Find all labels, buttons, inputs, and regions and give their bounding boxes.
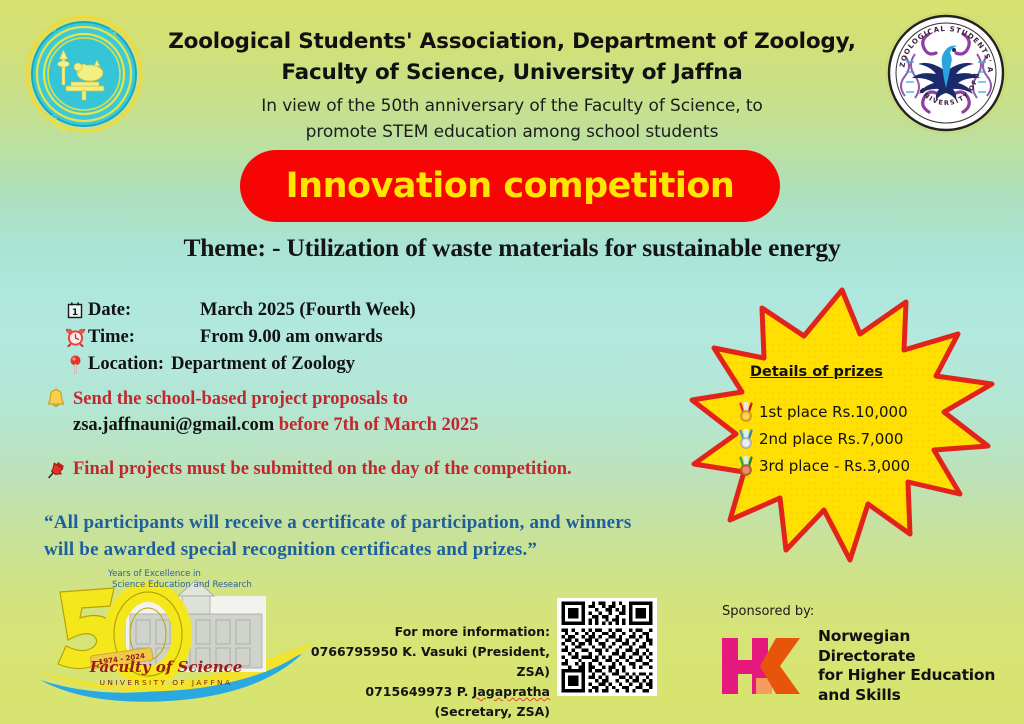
poster-header: Zoological Students' Association, Depart…	[160, 26, 864, 145]
submission-line-1: Send the school-based project proposals …	[73, 386, 408, 412]
prize-row-first: 1st place Rs.10,000	[738, 400, 963, 424]
fifty-logo-tagline-2: Science Education and Research	[112, 580, 252, 590]
submission-email[interactable]: zsa.jaffnauni@gmail.com	[73, 415, 274, 435]
gold-medal-icon	[738, 402, 756, 422]
detail-row-time: Time: From 9.00 am onwards	[62, 324, 622, 351]
quote-line-1: “All participants will receive a certifi…	[44, 509, 669, 536]
fifty-logo-faculty: Faculty of Science	[89, 658, 243, 676]
sponsor-name-line-1: Norwegian Directorate	[818, 627, 1012, 666]
fifty-logo-tagline-1: Years of Excellence in	[107, 569, 201, 579]
hk-logo	[722, 638, 804, 694]
detail-row-date: 1 Date: March 2025 (Fourth Week)	[62, 297, 622, 324]
detail-label-time: Time:	[88, 327, 200, 348]
contact-heading: For more information:	[290, 622, 550, 642]
fifty-logo-university: UNIVERSITY OF JAFFNA	[100, 678, 233, 687]
university-of-jaffna-emblem: யாழ்ப்பாணப் பல்கலைக்கழகம் UNIVERSITY OF …	[22, 14, 146, 134]
pushpin-icon	[46, 459, 73, 480]
location-pin-icon	[62, 355, 88, 375]
submission-deadline: before 7th of March 2025	[279, 415, 479, 435]
prizes-title: Details of prizes	[738, 364, 963, 380]
zoological-students-association-emblem: ZOOLOGICAL STUDENTS' ASSOCIATION UNIVERS…	[877, 10, 1015, 136]
calendar-icon: 1	[62, 302, 88, 319]
sponsor-name-line-2: for Higher Education	[818, 666, 1012, 686]
competition-title: Innovation competition	[286, 166, 735, 206]
sponsor-label: Sponsored by:	[722, 604, 1012, 619]
sponsor-name-line-3: and Skills	[818, 686, 1012, 706]
prizes-starburst: Details of prizes 1st place Rs.10,000	[688, 282, 998, 582]
prize-row-third: 3rd place - Rs.3,000	[738, 454, 963, 478]
fifty-years-anniversary-logo: 1974 - 2024 Years of Excellence in Scien…	[30, 562, 320, 707]
poster-canvas: யாழ்ப்பாணப் பல்கலைக்கழகம் UNIVERSITY OF …	[0, 0, 1024, 724]
contact-line-2-number: 0715649973 P.	[365, 684, 472, 699]
contact-line-2-rest: (Secretary, ZSA)	[434, 704, 550, 719]
prize-text-second: 2nd place Rs.7,000	[759, 427, 903, 451]
detail-value-date: March 2025 (Fourth Week)	[200, 300, 416, 321]
detail-label-location: Location:	[88, 354, 171, 375]
sponsor-block: Sponsored by: Norwegian Directorate for …	[722, 604, 1012, 705]
detail-label-date: Date:	[88, 300, 200, 321]
final-projects-note: Final projects must be submitted on the …	[46, 459, 686, 480]
detail-value-location: Department of Zoology	[171, 354, 355, 375]
bronze-medal-icon	[738, 456, 756, 476]
organization-line-1: Zoological Students' Association, Depart…	[160, 26, 864, 57]
participation-quote: “All participants will receive a certifi…	[44, 509, 669, 563]
svg-text:1: 1	[72, 308, 78, 318]
final-projects-text: Final projects must be submitted on the …	[73, 459, 572, 480]
contact-line-2: 0715649973 P. Jagapratha (Secretary, ZSA…	[290, 682, 550, 722]
silver-medal-icon	[738, 429, 756, 449]
sponsor-name: Norwegian Directorate for Higher Educati…	[818, 627, 1012, 705]
submission-instructions: Send the school-based project proposals …	[46, 386, 666, 438]
event-details-list: 1 Date: March 2025 (Fourth Week) Time: F	[62, 297, 622, 378]
prize-text-third: 3rd place - Rs.3,000	[759, 454, 910, 478]
prizes-content: Details of prizes 1st place Rs.10,000	[738, 364, 963, 481]
detail-value-time: From 9.00 am onwards	[200, 327, 383, 348]
theme-line: Theme: - Utilization of waste materials …	[0, 233, 1024, 263]
organization-line-2: Faculty of Science, University of Jaffna	[160, 57, 864, 88]
contact-info: For more information: 0766795950 K. Vasu…	[290, 622, 550, 722]
alarm-clock-icon	[62, 328, 88, 347]
competition-title-banner: Innovation competition	[240, 150, 780, 222]
bell-icon	[46, 386, 73, 409]
detail-row-location: Location: Department of Zoology	[62, 351, 622, 378]
contact-line-2-name: Jagapratha	[473, 684, 550, 699]
qr-code[interactable]	[557, 598, 657, 696]
subtitle-line-2: promote STEM education among school stud…	[160, 119, 864, 145]
subtitle-line-1: In view of the 50th anniversary of the F…	[160, 93, 864, 119]
prize-text-first: 1st place Rs.10,000	[759, 400, 908, 424]
contact-line-1: 0766795950 K. Vasuki (President, ZSA)	[290, 642, 550, 682]
prize-row-second: 2nd place Rs.7,000	[738, 427, 963, 451]
quote-line-2: will be awarded special recognition cert…	[44, 536, 669, 563]
